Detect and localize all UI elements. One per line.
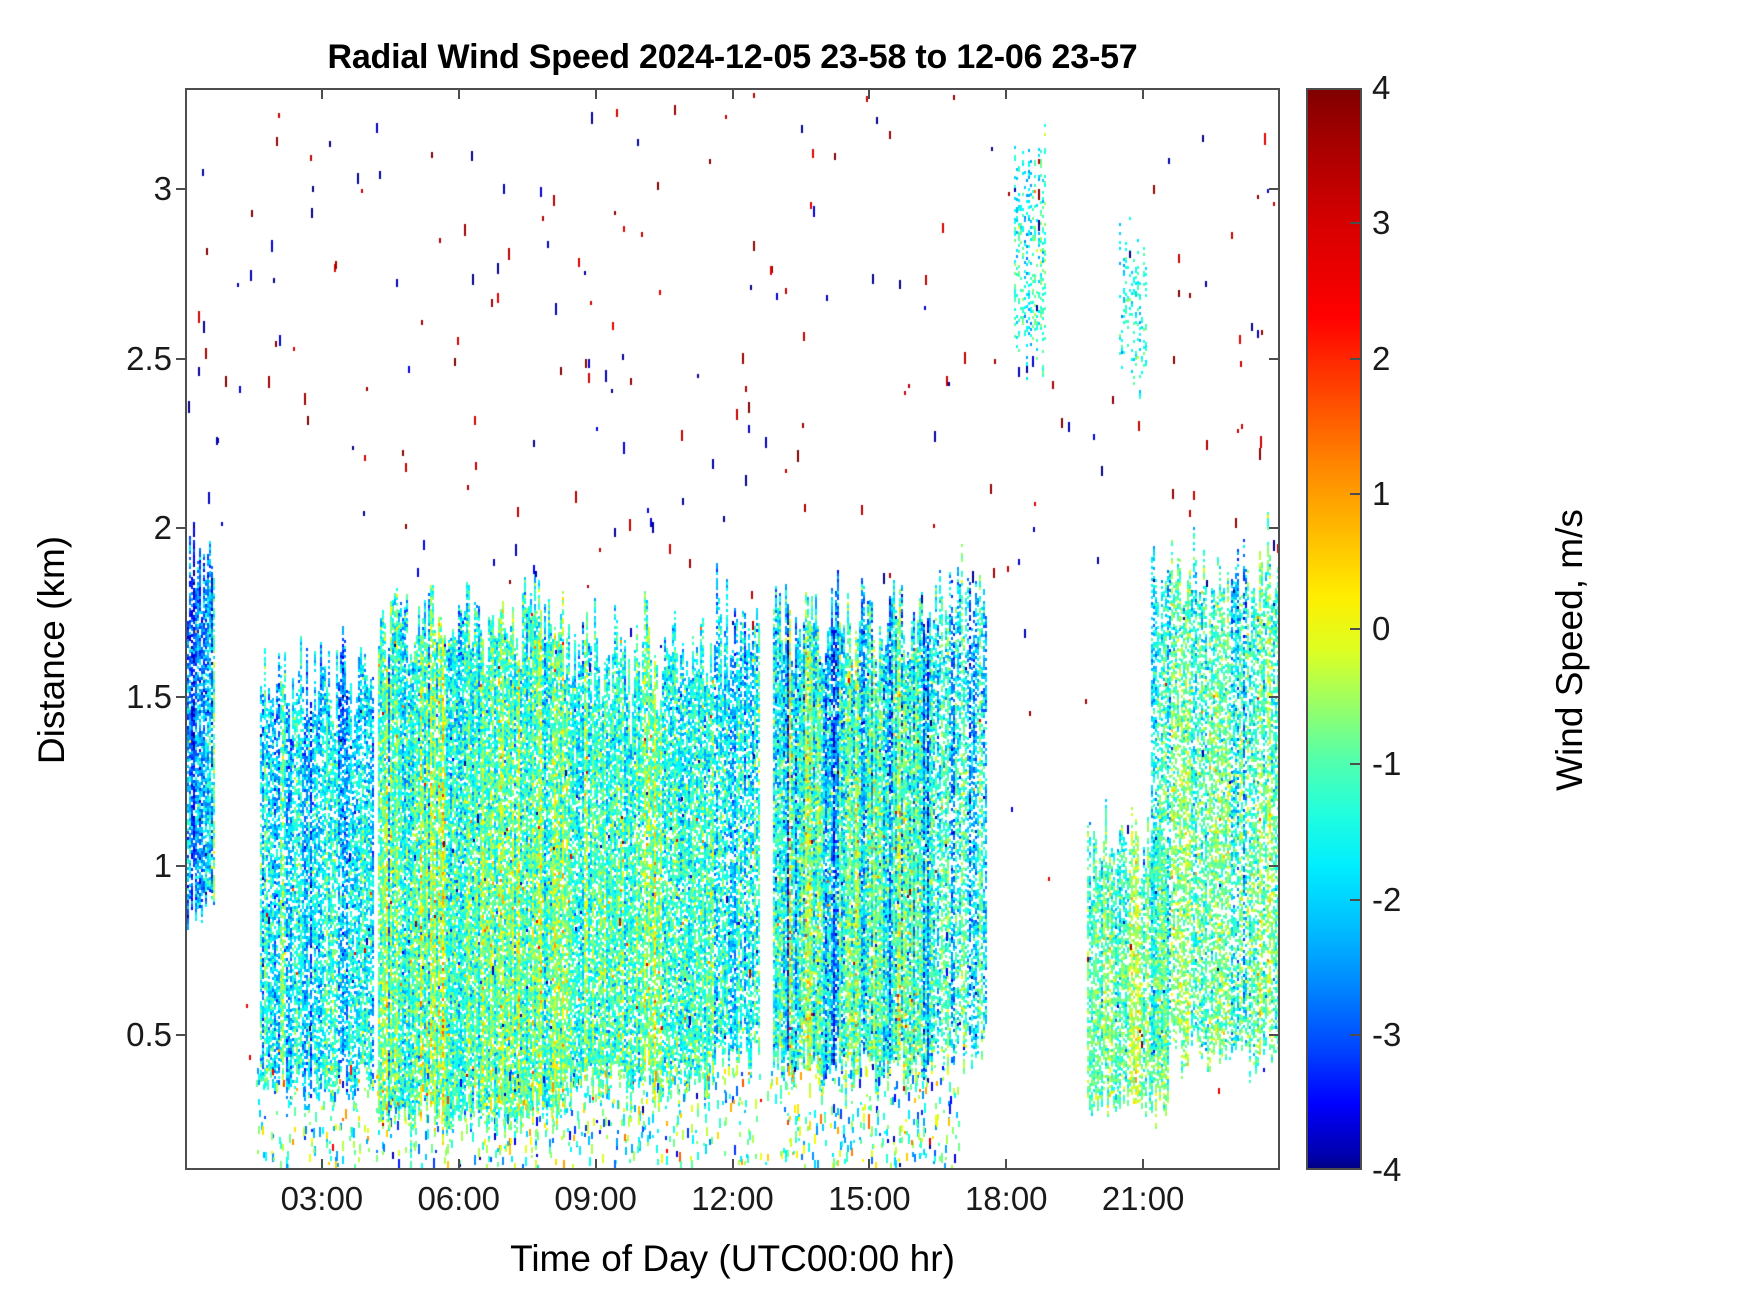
x-axis-tick-top — [458, 88, 460, 99]
colorbar-tick-label: -1 — [1372, 745, 1401, 783]
heatmap-data-area — [187, 90, 1278, 1168]
x-axis-tick-top — [868, 88, 870, 99]
colorbar-tick — [1350, 763, 1362, 765]
y-axis-tick-right — [1269, 527, 1280, 529]
x-axis-tick-top — [1142, 88, 1144, 99]
y-axis-tick — [176, 527, 187, 529]
y-axis-tick-right — [1269, 696, 1280, 698]
x-axis-tick-top — [732, 88, 734, 99]
y-axis-tick-label: 3 — [154, 170, 172, 208]
y-axis-tick-label: 0.5 — [126, 1016, 172, 1054]
colorbar-tick — [1350, 493, 1362, 495]
x-axis-tick-label: 06:00 — [417, 1180, 500, 1218]
colorbar-tick-label: 4 — [1372, 69, 1390, 107]
y-axis-tick — [176, 865, 187, 867]
y-axis-tick-label: 2.5 — [126, 340, 172, 378]
colorbar-tick — [1350, 628, 1362, 630]
x-axis-tick-label: 18:00 — [965, 1180, 1048, 1218]
colorbar-tick-label: -3 — [1372, 1016, 1401, 1054]
x-axis-tick — [321, 1159, 323, 1170]
colorbar-tick-label: 1 — [1372, 475, 1390, 513]
x-axis-tick — [1005, 1159, 1007, 1170]
colorbar-title: Wind Speed, m/s — [1549, 390, 1591, 910]
figure-canvas: Radial Wind Speed 2024-12-05 23-58 to 12… — [0, 0, 1750, 1313]
y-axis-tick-right — [1269, 358, 1280, 360]
x-axis-tick-label: 09:00 — [554, 1180, 637, 1218]
x-axis-tick-label: 15:00 — [828, 1180, 911, 1218]
colorbar[interactable]: 43210-1-2-3-4 — [1306, 88, 1362, 1170]
x-axis-tick — [458, 1159, 460, 1170]
colorbar-tick — [1350, 222, 1362, 224]
x-axis-tick-top — [595, 88, 597, 99]
plot-axes — [185, 88, 1280, 1170]
x-axis-tick — [868, 1159, 870, 1170]
y-axis-title: Distance (km) — [31, 390, 73, 910]
y-axis-tick-label: 1.5 — [126, 678, 172, 716]
y-axis-tick — [176, 358, 187, 360]
x-axis-tick — [732, 1159, 734, 1170]
colorbar-tick-label: -2 — [1372, 881, 1401, 919]
colorbar-tick-label: 3 — [1372, 204, 1390, 242]
x-axis-tick-label: 03:00 — [281, 1180, 364, 1218]
x-axis-tick-top — [1005, 88, 1007, 99]
x-axis-tick-top — [321, 88, 323, 99]
x-axis-title: Time of Day (UTC00:00 hr) — [185, 1238, 1280, 1280]
colorbar-tick — [1350, 899, 1362, 901]
x-axis-tick — [1142, 1159, 1144, 1170]
x-axis-tick — [595, 1159, 597, 1170]
y-axis-tick-label: 1 — [154, 847, 172, 885]
y-axis-tick-right — [1269, 865, 1280, 867]
colorbar-tick-label: -4 — [1372, 1151, 1401, 1189]
y-axis-tick — [176, 188, 187, 190]
x-axis-tick-label: 21:00 — [1102, 1180, 1185, 1218]
y-axis-tick-right — [1269, 188, 1280, 190]
y-axis-tick-label: 2 — [154, 509, 172, 547]
y-axis-tick-right — [1269, 1034, 1280, 1036]
x-axis-tick-label: 12:00 — [691, 1180, 774, 1218]
colorbar-tick-label: 0 — [1372, 610, 1390, 648]
colorbar-tick — [1350, 1034, 1362, 1036]
y-axis-tick — [176, 1034, 187, 1036]
page-title: Radial Wind Speed 2024-12-05 23-58 to 12… — [185, 38, 1280, 77]
colorbar-tick-label: 2 — [1372, 340, 1390, 378]
colorbar-tick — [1350, 358, 1362, 360]
y-axis-tick — [176, 696, 187, 698]
